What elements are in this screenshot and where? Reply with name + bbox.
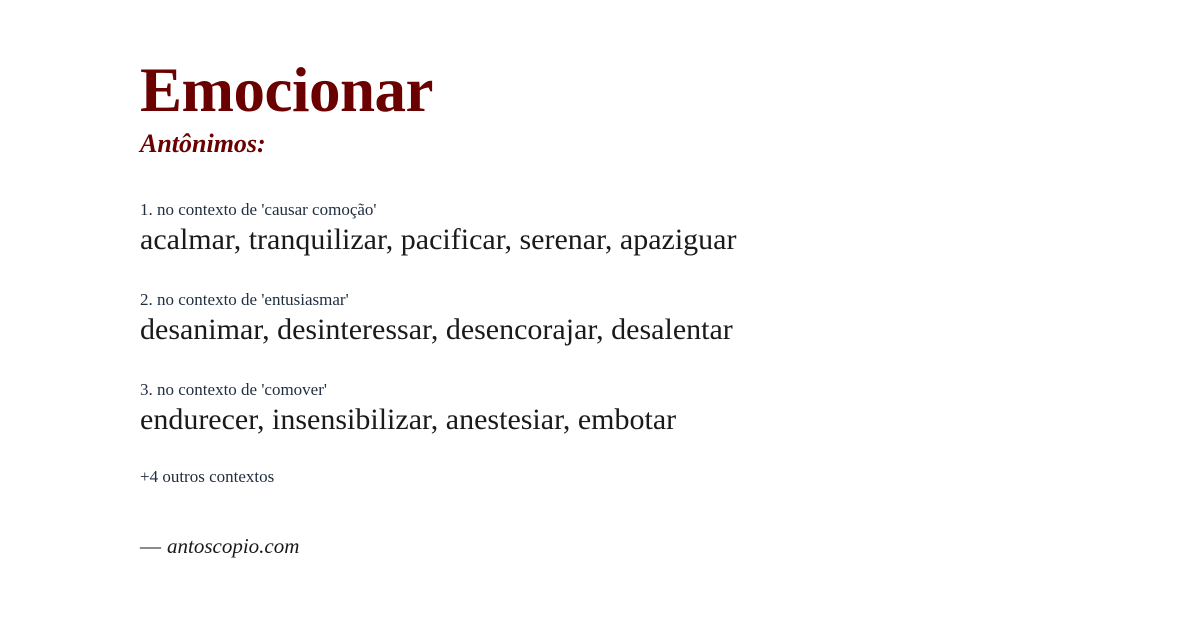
sense-antonyms: desanimar, desinteressar, desencorajar, … [140, 312, 1140, 349]
em-dash-icon: — [140, 534, 167, 558]
section-label: Antônimos: [140, 130, 1140, 159]
sense-entry: 2. no contexto de 'entusiasmar' desanima… [140, 289, 1140, 349]
more-contexts-label: +4 outros contextos [140, 466, 1140, 487]
sense-context-label: 2. no contexto de 'entusiasmar' [140, 289, 1140, 310]
sense-context-label: 3. no contexto de 'comover' [140, 379, 1140, 400]
sense-list: 1. no contexto de 'causar comoção' acalm… [140, 199, 1140, 439]
source-name: antoscopio.com [167, 534, 299, 558]
sense-entry: 3. no contexto de 'comover' endurecer, i… [140, 379, 1140, 439]
sense-entry: 1. no contexto de 'causar comoção' acalm… [140, 199, 1140, 259]
antonyms-card: Emocionar Antônimos: 1. no contexto de '… [0, 0, 1200, 628]
sense-antonyms: acalmar, tranquilizar, pacificar, serena… [140, 222, 1140, 259]
sense-antonyms: endurecer, insensibilizar, anestesiar, e… [140, 402, 1140, 439]
attribution: —antoscopio.com [140, 534, 1140, 559]
sense-context-label: 1. no contexto de 'causar comoção' [140, 199, 1140, 220]
page-title: Emocionar [140, 58, 1140, 122]
